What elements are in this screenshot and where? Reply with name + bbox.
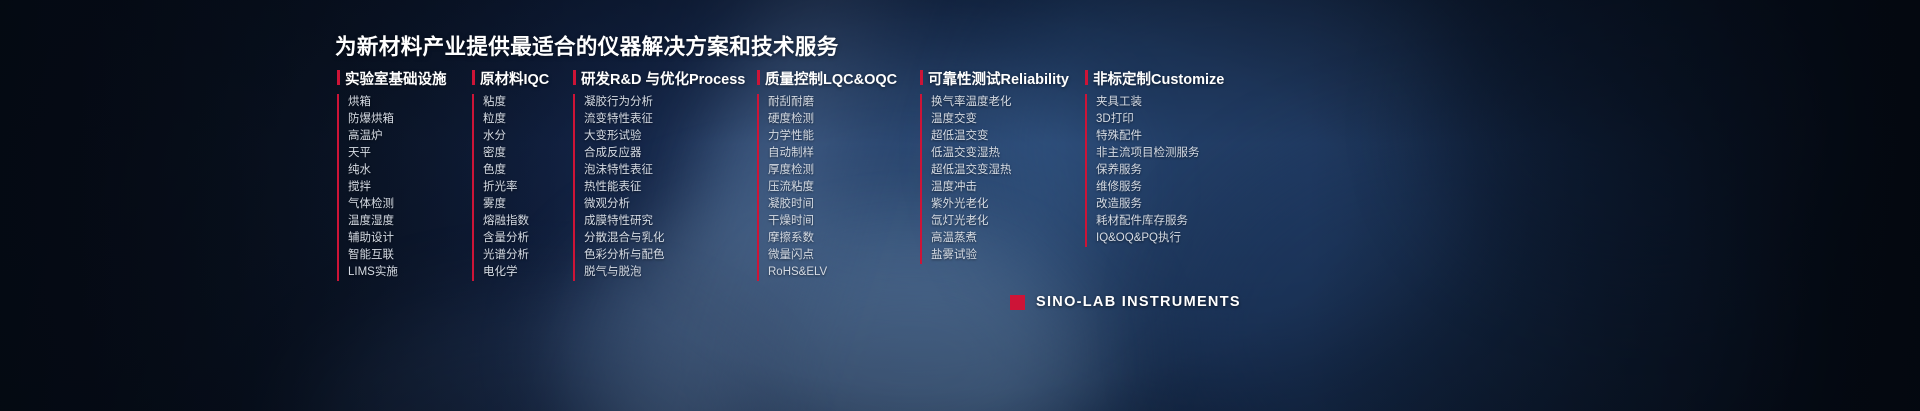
list-item[interactable]: 水分 (483, 128, 549, 145)
list-item[interactable]: 搅拌 (348, 179, 447, 196)
list-item[interactable]: 气体检测 (348, 196, 447, 213)
list-item[interactable]: 色度 (483, 162, 549, 179)
list-item[interactable]: 粒度 (483, 111, 549, 128)
list-item[interactable]: 厚度检测 (768, 162, 897, 179)
list-item[interactable]: 防爆烘箱 (348, 111, 447, 128)
list-item[interactable]: 超低温交变湿热 (931, 162, 1069, 179)
column-item-list: 凝胶行为分析 流变特性表征 大变形试验 合成反应器 泡沫特性表征 热性能表征 微… (573, 94, 745, 281)
column-item-list: 夹具工装 3D打印 特殊配件 非主流项目检测服务 保养服务 维修服务 改造服务 … (1085, 94, 1224, 247)
list-item[interactable]: 电化学 (483, 264, 549, 281)
list-item[interactable]: 力学性能 (768, 128, 897, 145)
list-item[interactable]: 粘度 (483, 94, 549, 111)
list-item[interactable]: 温度冲击 (931, 179, 1069, 196)
list-item[interactable]: 折光率 (483, 179, 549, 196)
list-item[interactable]: 摩擦系数 (768, 230, 897, 247)
list-item[interactable]: 自动制样 (768, 145, 897, 162)
list-item[interactable]: 辅助设计 (348, 230, 447, 247)
list-item[interactable]: 超低温交变 (931, 128, 1069, 145)
list-item[interactable]: 光谱分析 (483, 247, 549, 264)
list-item[interactable]: 温度湿度 (348, 213, 447, 230)
category-column-lab-infrastructure: 实验室基础设施 烘箱 防爆烘箱 高温炉 天平 纯水 搅拌 气体检测 温度湿度 辅… (337, 68, 447, 281)
list-item[interactable]: 脱气与脱泡 (584, 264, 745, 281)
category-column-customize: 非标定制Customize 夹具工装 3D打印 特殊配件 非主流项目检测服务 保… (1085, 68, 1224, 247)
list-item[interactable]: 泡沫特性表征 (584, 162, 745, 179)
column-header: 原材料IQC (472, 68, 549, 89)
list-item[interactable]: LIMS实施 (348, 264, 447, 281)
list-item[interactable]: 高温蒸煮 (931, 230, 1069, 247)
list-item[interactable]: 色彩分析与配色 (584, 247, 745, 264)
square-mark-icon (1010, 295, 1025, 310)
list-item[interactable]: RoHS&ELV (768, 264, 897, 281)
category-column-rd-process: 研发R&D 与优化Process 凝胶行为分析 流变特性表征 大变形试验 合成反… (573, 68, 745, 281)
list-item[interactable]: 耐刮耐磨 (768, 94, 897, 111)
list-item[interactable]: 硬度检测 (768, 111, 897, 128)
list-item[interactable]: 分散混合与乳化 (584, 230, 745, 247)
brand-lockup: SINO-LAB INSTRUMENTS (1010, 294, 1241, 310)
page-title: 为新材料产业提供最适合的仪器解决方案和技术服务 (335, 30, 839, 61)
list-item[interactable]: 智能互联 (348, 247, 447, 264)
list-item[interactable]: 氙灯光老化 (931, 213, 1069, 230)
list-item[interactable]: 维修服务 (1096, 179, 1224, 196)
list-item[interactable]: 熔融指数 (483, 213, 549, 230)
list-item[interactable]: 低温交变湿热 (931, 145, 1069, 162)
list-item[interactable]: IQ&OQ&PQ执行 (1096, 230, 1224, 247)
list-item[interactable]: 凝胶时间 (768, 196, 897, 213)
list-item[interactable]: 换气率温度老化 (931, 94, 1069, 111)
list-item[interactable]: 天平 (348, 145, 447, 162)
list-item[interactable]: 干燥时间 (768, 213, 897, 230)
column-header: 非标定制Customize (1085, 68, 1224, 89)
list-item[interactable]: 特殊配件 (1096, 128, 1224, 145)
list-item[interactable]: 成膜特性研究 (584, 213, 745, 230)
brand-name: SINO-LAB INSTRUMENTS (1036, 294, 1241, 310)
column-header: 质量控制LQC&OQC (757, 68, 897, 89)
list-item[interactable]: 大变形试验 (584, 128, 745, 145)
list-item[interactable]: 凝胶行为分析 (584, 94, 745, 111)
list-item[interactable]: 盐雾试验 (931, 247, 1069, 264)
column-header: 研发R&D 与优化Process (573, 68, 745, 89)
list-item[interactable]: 流变特性表征 (584, 111, 745, 128)
list-item[interactable]: 压流粘度 (768, 179, 897, 196)
list-item[interactable]: 密度 (483, 145, 549, 162)
column-item-list: 耐刮耐磨 硬度检测 力学性能 自动制样 厚度检测 压流粘度 凝胶时间 干燥时间 … (757, 94, 897, 281)
column-item-list: 换气率温度老化 温度交变 超低温交变 低温交变湿热 超低温交变湿热 温度冲击 紫… (920, 94, 1069, 264)
list-item[interactable]: 热性能表征 (584, 179, 745, 196)
list-item[interactable]: 高温炉 (348, 128, 447, 145)
list-item[interactable]: 含量分析 (483, 230, 549, 247)
list-item[interactable]: 合成反应器 (584, 145, 745, 162)
list-item[interactable]: 微观分析 (584, 196, 745, 213)
list-item[interactable]: 雾度 (483, 196, 549, 213)
category-column-raw-material-iqc: 原材料IQC 粘度 粒度 水分 密度 色度 折光率 雾度 熔融指数 含量分析 光… (472, 68, 549, 281)
list-item[interactable]: 紫外光老化 (931, 196, 1069, 213)
list-item[interactable]: 保养服务 (1096, 162, 1224, 179)
list-item[interactable]: 非主流项目检测服务 (1096, 145, 1224, 162)
column-item-list: 粘度 粒度 水分 密度 色度 折光率 雾度 熔融指数 含量分析 光谱分析 电化学 (472, 94, 549, 281)
list-item[interactable]: 微量闪点 (768, 247, 897, 264)
list-item[interactable]: 耗材配件库存服务 (1096, 213, 1224, 230)
list-item[interactable]: 3D打印 (1096, 111, 1224, 128)
category-column-quality-control: 质量控制LQC&OQC 耐刮耐磨 硬度检测 力学性能 自动制样 厚度检测 压流粘… (757, 68, 897, 281)
list-item[interactable]: 纯水 (348, 162, 447, 179)
column-header: 实验室基础设施 (337, 68, 447, 89)
category-column-reliability: 可靠性测试Reliability 换气率温度老化 温度交变 超低温交变 低温交变… (920, 68, 1069, 264)
marketing-banner: 为新材料产业提供最适合的仪器解决方案和技术服务 实验室基础设施 烘箱 防爆烘箱 … (0, 0, 1920, 411)
column-header: 可靠性测试Reliability (920, 68, 1069, 89)
list-item[interactable]: 夹具工装 (1096, 94, 1224, 111)
column-item-list: 烘箱 防爆烘箱 高温炉 天平 纯水 搅拌 气体检测 温度湿度 辅助设计 智能互联… (337, 94, 447, 281)
list-item[interactable]: 改造服务 (1096, 196, 1224, 213)
list-item[interactable]: 烘箱 (348, 94, 447, 111)
list-item[interactable]: 温度交变 (931, 111, 1069, 128)
